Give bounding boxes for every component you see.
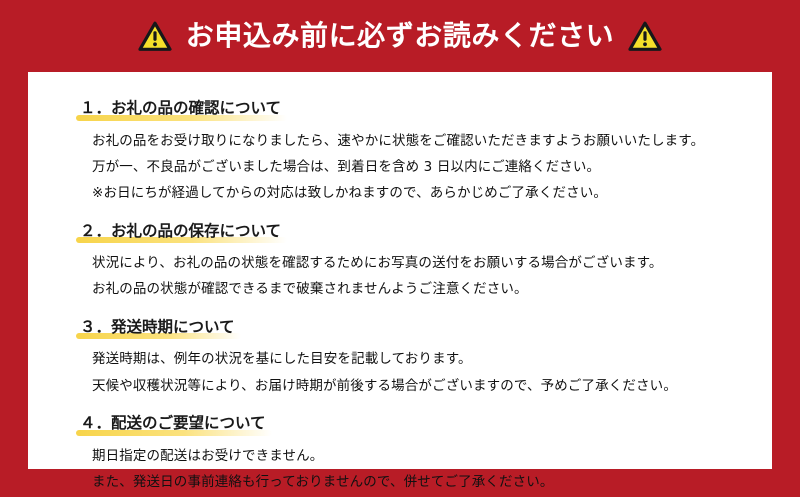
section-1-line-2: 万が一、不良品がございました場合は、到着日を含め 3 日以内にご連絡ください。 bbox=[92, 154, 748, 180]
section-heading-3: ３．発送時期について bbox=[76, 318, 239, 340]
warning-triangle-icon-left bbox=[138, 21, 172, 52]
section-4-line-1: 期日指定の配送はお受けできません。 bbox=[92, 443, 748, 469]
notice-page: お申込み前に必ずお読みください １．お礼の品の確認について お礼の品をお受け取り… bbox=[0, 0, 800, 497]
warning-triangle-icon-right bbox=[628, 21, 662, 52]
section-3-line-1: 発送時期は、例年の状況を基にした目安を記載しております。 bbox=[92, 346, 748, 372]
section-1-line-1: お礼の品をお受け取りになりましたら、速やかに状態をご確認いただきますようお願いい… bbox=[92, 128, 748, 154]
section-heading-1-text: １．お礼の品の確認について bbox=[80, 99, 281, 117]
section-heading-4: ４．配送のご要望について bbox=[76, 414, 270, 436]
section-heading-2-text: ２．お礼の品の保存について bbox=[80, 222, 281, 240]
notice-section-1: １．お礼の品の確認について お礼の品をお受け取りになりましたら、速やかに状態をご… bbox=[52, 98, 748, 207]
section-3-line-2: 天候や収穫状況等により、お届け時期が前後する場合がございますので、予めご了承くだ… bbox=[92, 373, 748, 399]
section-4-line-2: また、発送日の事前連絡も行っておりませんので、併せてご了承ください。 bbox=[92, 469, 748, 495]
notice-section-2: ２．お礼の品の保存について 状況により、お礼の品の状態を確認するためにお写真の送… bbox=[52, 221, 748, 303]
page-title: お申込み前に必ずお読みください bbox=[186, 22, 614, 50]
section-2-line-2: お礼の品の状態が確認できるまで破棄されませんようご注意ください。 bbox=[92, 276, 748, 302]
notice-card: １．お礼の品の確認について お礼の品をお受け取りになりましたら、速やかに状態をご… bbox=[28, 72, 772, 469]
section-heading-1: １．お礼の品の確認について bbox=[76, 99, 285, 121]
section-heading-3-text: ３．発送時期について bbox=[80, 318, 235, 336]
section-2-line-1: 状況により、お礼の品の状態を確認するためにお写真の送付をお願いする場合がございま… bbox=[92, 250, 748, 276]
notice-section-4: ４．配送のご要望について 期日指定の配送はお受けできません。 また、発送日の事前… bbox=[52, 413, 748, 495]
section-heading-4-text: ４．配送のご要望について bbox=[80, 414, 266, 432]
section-1-line-3: ※お日にちが経過してからの対応は致しかねますので、あらかじめご了承ください。 bbox=[92, 180, 748, 206]
notice-section-3: ３．発送時期について 発送時期は、例年の状況を基にした目安を記載しております。 … bbox=[52, 317, 748, 399]
section-heading-2: ２．お礼の品の保存について bbox=[76, 222, 285, 244]
banner-header: お申込み前に必ずお読みください bbox=[0, 0, 800, 72]
